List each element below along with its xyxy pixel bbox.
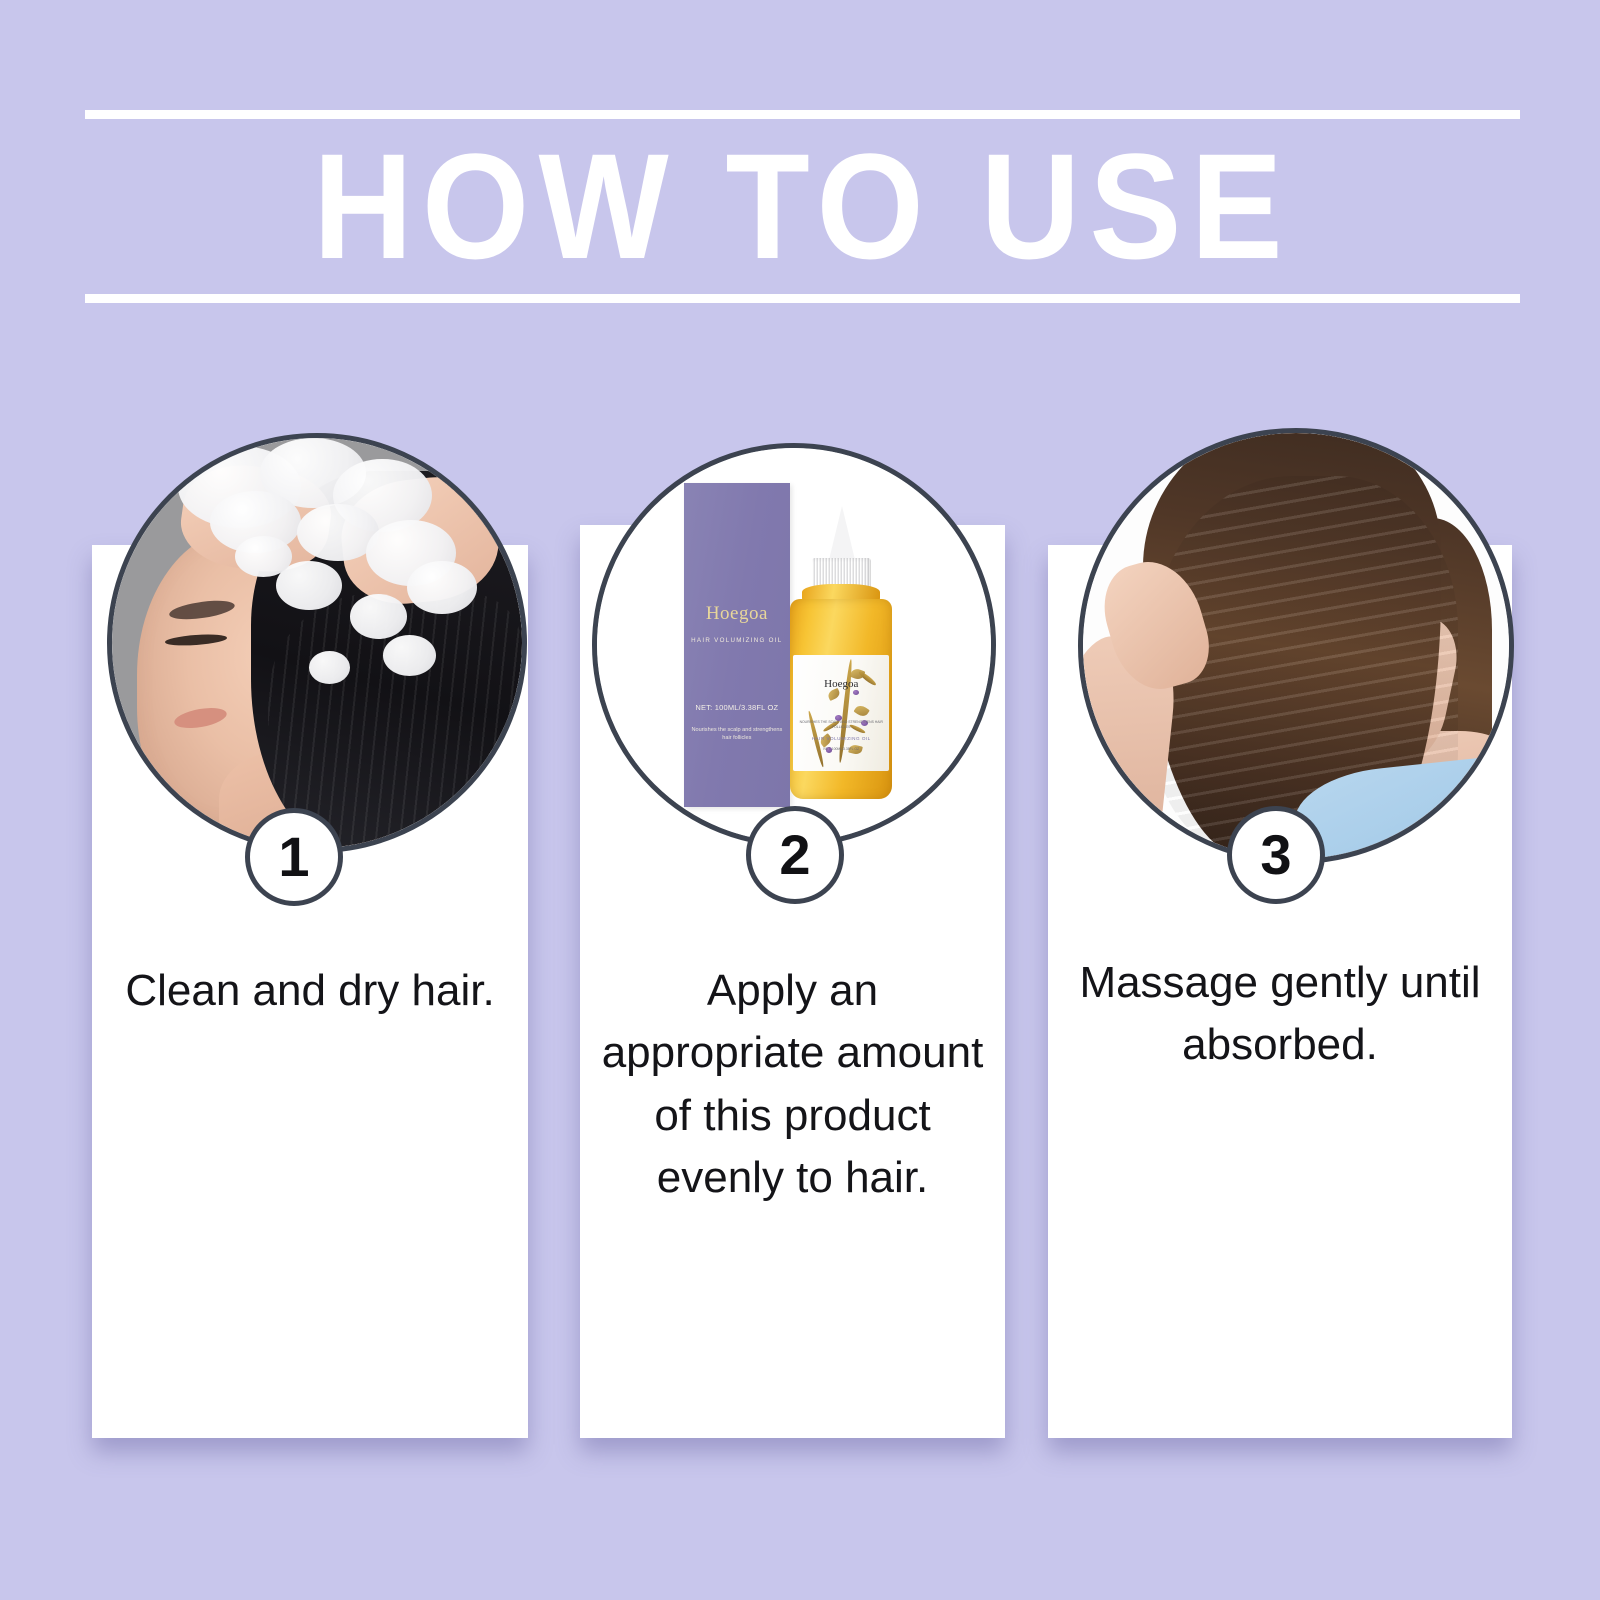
bottle-label: Hoegoa NOURISHES THE SCALP AND STRENGTHE… bbox=[793, 655, 889, 771]
foam-bubble bbox=[350, 594, 407, 639]
step-1-caption: Clean and dry hair. bbox=[110, 960, 510, 1022]
long-hair-model-photo bbox=[1083, 433, 1509, 859]
label-net-weight: NET: 100ML/3.38FL OZ bbox=[799, 747, 884, 751]
label-product-type: HAIR VOLUMIZING OIL bbox=[799, 736, 884, 741]
bottle-nozzle-icon bbox=[829, 506, 855, 560]
foam-bubble bbox=[309, 651, 350, 684]
box-description: Nourishes the scalp and strengthens hair… bbox=[688, 726, 786, 743]
title-rule-bottom bbox=[85, 294, 1520, 303]
oil-bottle: Hoegoa NOURISHES THE SCALP AND STRENGTHE… bbox=[790, 543, 892, 799]
label-brand-name: Hoegoa bbox=[793, 678, 889, 690]
washing-hair-photo bbox=[112, 438, 522, 848]
box-net-weight: NET: 100ML/3.38FL OZ bbox=[684, 703, 790, 712]
step-1-number-badge: 1 bbox=[245, 808, 343, 906]
header: HOW TO USE bbox=[85, 110, 1520, 310]
foam-bubble bbox=[407, 561, 477, 614]
berry-decoration bbox=[853, 690, 859, 695]
leaf-decoration bbox=[853, 703, 870, 719]
foam-bubble bbox=[383, 635, 436, 676]
step-2-photo-circle: Hoegoa HAIR VOLUMIZING OIL NET: 100ML/3.… bbox=[592, 443, 996, 847]
box-brand-name: Hoegoa bbox=[684, 603, 790, 625]
step-3-photo-circle bbox=[1078, 428, 1514, 864]
bottle-body: Hoegoa NOURISHES THE SCALP AND STRENGTHE… bbox=[790, 599, 892, 799]
product-photo: Hoegoa HAIR VOLUMIZING OIL NET: 100ML/3.… bbox=[597, 448, 991, 842]
page-title: HOW TO USE bbox=[142, 118, 1462, 294]
step-3-number-badge: 3 bbox=[1227, 806, 1325, 904]
step-2-number-badge: 2 bbox=[746, 806, 844, 904]
box-subtitle: HAIR VOLUMIZING OIL bbox=[684, 637, 790, 644]
step-2-caption: Apply an appropriate amount of this prod… bbox=[596, 960, 989, 1210]
step-1-photo-circle bbox=[107, 433, 527, 853]
label-fine-print: NOURISHES THE SCALP AND STRENGTHENS HAIR… bbox=[799, 720, 884, 730]
product-box: Hoegoa HAIR VOLUMIZING OIL NET: 100ML/3.… bbox=[684, 483, 790, 806]
step-3-caption: Massage gently until absorbed. bbox=[1062, 952, 1498, 1077]
